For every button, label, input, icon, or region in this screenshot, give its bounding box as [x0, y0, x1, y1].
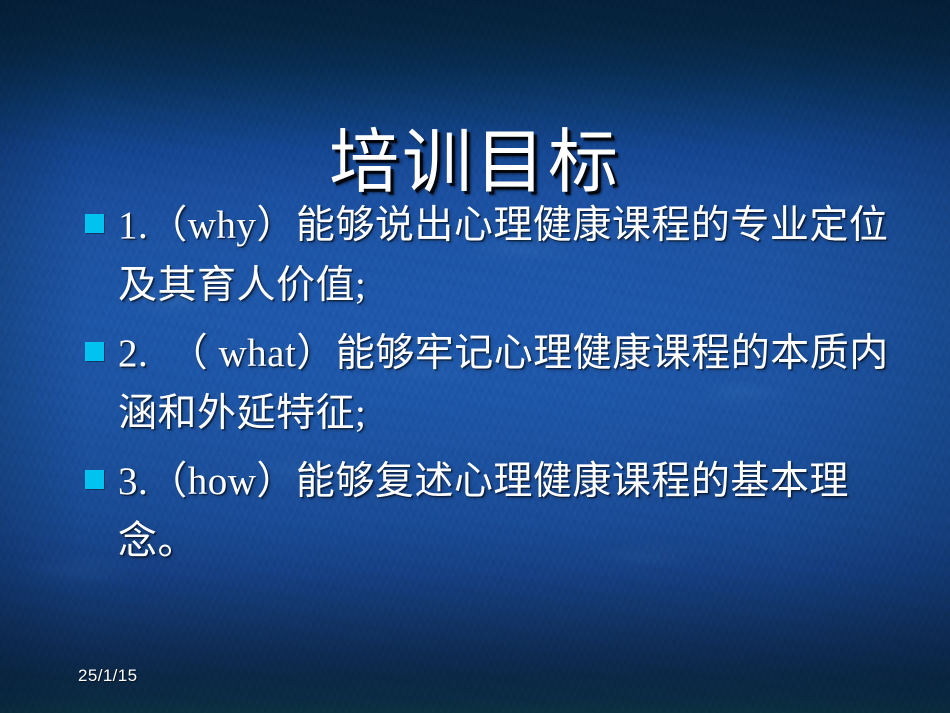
- list-item: 1.（why）能够说出心理健康课程的专业定位及其育人价值;: [78, 196, 890, 316]
- square-bullet-icon: [85, 214, 104, 233]
- list-item-text: 3.（how）能够复述心理健康课程的基本理念。: [118, 452, 890, 572]
- list-item: 3.（how）能够复述心理健康课程的基本理念。: [78, 452, 890, 572]
- presentation-slide: 培训目标 1.（why）能够说出心理健康课程的专业定位及其育人价值; 2. （ …: [0, 0, 950, 713]
- list-item-text: 2. （ what）能够牢记心理健康课程的本质内涵和外延特征;: [118, 324, 890, 444]
- slide-title: 培训目标: [0, 129, 950, 199]
- list-item: 2. （ what）能够牢记心理健康课程的本质内涵和外延特征;: [78, 324, 890, 444]
- slide-date-footer: 25/1/15: [78, 666, 138, 686]
- list-item-text: 1.（why）能够说出心理健康课程的专业定位及其育人价值;: [118, 196, 890, 316]
- square-bullet-icon: [85, 470, 104, 489]
- slide-body-list: 1.（why）能够说出心理健康课程的专业定位及其育人价值; 2. （ what）…: [78, 196, 890, 580]
- square-bullet-icon: [85, 342, 104, 361]
